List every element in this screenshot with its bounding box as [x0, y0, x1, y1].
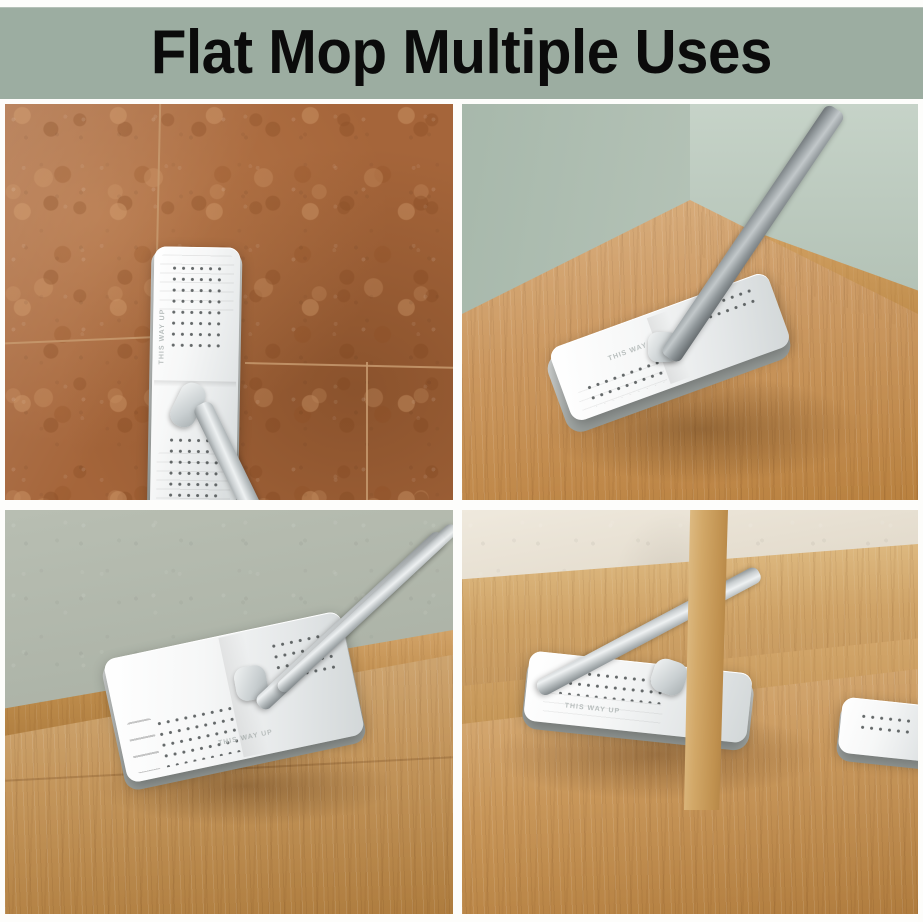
mop-this-way-up-label: THIS WAY UP: [158, 309, 166, 365]
mop-perforations-top: [169, 263, 222, 350]
panel-baseboard[interactable]: THIS WAY UP Baseboard: [5, 510, 453, 914]
panel-corners[interactable]: THIS WAY UP Corners: [462, 104, 918, 500]
scene-baseboard: THIS WAY UP: [5, 510, 453, 914]
scene-under-furniture: THIS WAY UP: [462, 510, 918, 914]
header-banner: Flat Mop Multiple Uses: [0, 7, 923, 99]
mop-head-far-end: [837, 697, 918, 764]
panel-walls-windows[interactable]: THIS WAY UP Walls/Windows: [5, 104, 453, 500]
infographic-page: Flat Mop Multiple Uses: [0, 0, 923, 922]
panel-under-furniture[interactable]: THIS WAY UP Under Furniture: [462, 510, 918, 914]
scene-walls-windows: THIS WAY UP: [5, 104, 453, 500]
page-title: Flat Mop Multiple Uses: [151, 22, 772, 84]
scene-corners: THIS WAY UP: [462, 104, 918, 500]
grout-line-vertical-right: [366, 362, 368, 500]
mop-perforations-far: [858, 710, 916, 738]
mop-perforations-left: [154, 703, 241, 768]
panel-grid: THIS WAY UP Walls/Windows: [0, 104, 923, 922]
